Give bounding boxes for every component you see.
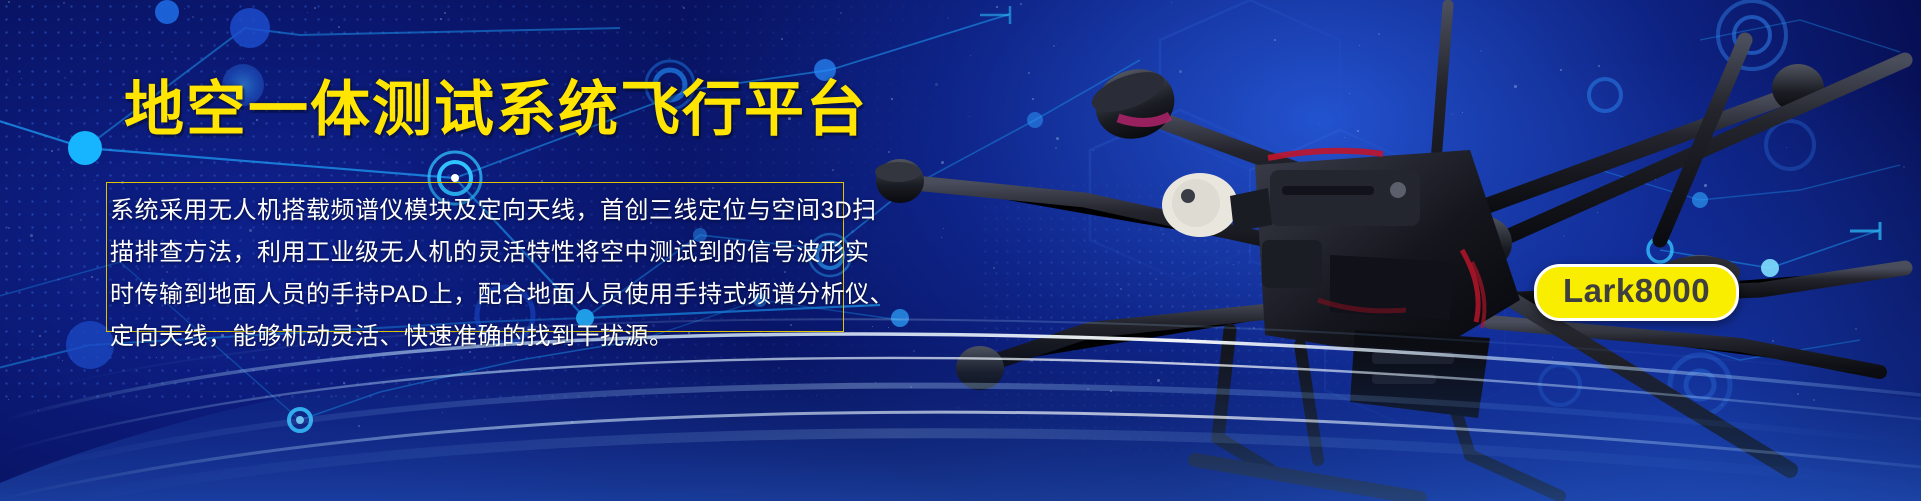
description-text: 系统采用无人机搭载频谱仪模块及定向天线，首创三线定位与空间3D扫 描排查方法，利… (110, 190, 850, 358)
product-banner: 地空一体测试系统飞行平台 系统采用无人机搭载频谱仪模块及定向天线，首创三线定位与… (0, 0, 1921, 501)
drone-body (1162, 150, 1520, 418)
description-line: 时传输到地面人员的手持PAD上，配合地面人员使用手持式频谱分析仪、 (110, 274, 850, 316)
product-model-badge: Lark8000 (1534, 264, 1739, 321)
page-title: 地空一体测试系统飞行平台 (124, 80, 868, 140)
description-line: 系统采用无人机搭载频谱仪模块及定向天线，首创三线定位与空间3D扫 (110, 190, 850, 232)
description-line: 定向天线，能够机动灵活、快速准确的找到干扰源。 (110, 316, 850, 358)
description-line: 描排查方法，利用工业级无人机的灵活特性将空中测试到的信号波形实 (110, 232, 850, 274)
